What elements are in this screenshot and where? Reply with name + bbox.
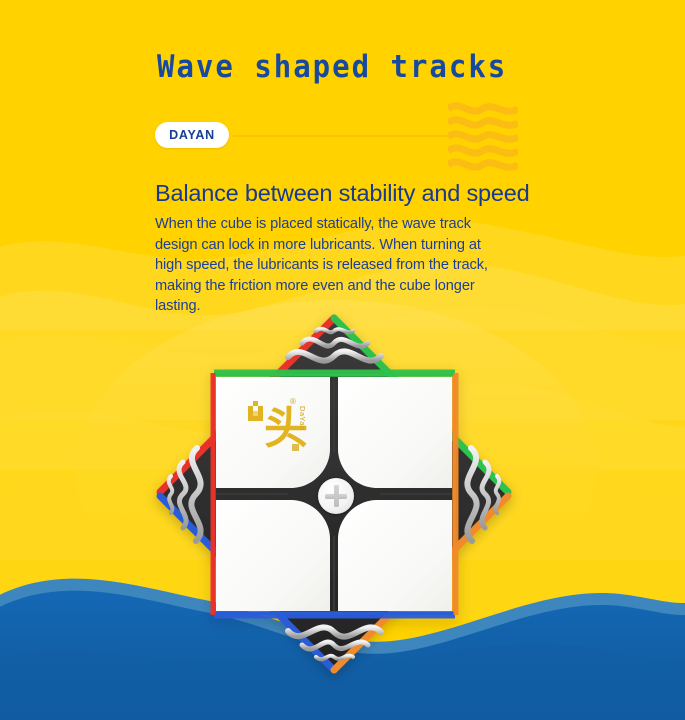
logo-seal [292, 444, 299, 451]
logo-wordmark: DaYan [298, 406, 307, 430]
cube-tile-top-right [338, 377, 452, 488]
cube-tile-bottom-left [216, 500, 330, 611]
logo-registered-mark: ® [290, 397, 296, 406]
center-screw-cap [318, 478, 354, 514]
promo-banner: Wave shaped tracks DAYAN Balance between… [0, 0, 685, 720]
product-image-cube: 头 DaYan ® [0, 0, 685, 720]
cube-tile-bottom-right [338, 500, 452, 611]
screw-slot-vertical [334, 485, 339, 507]
cube-vector: 头 DaYan ® [0, 0, 685, 720]
